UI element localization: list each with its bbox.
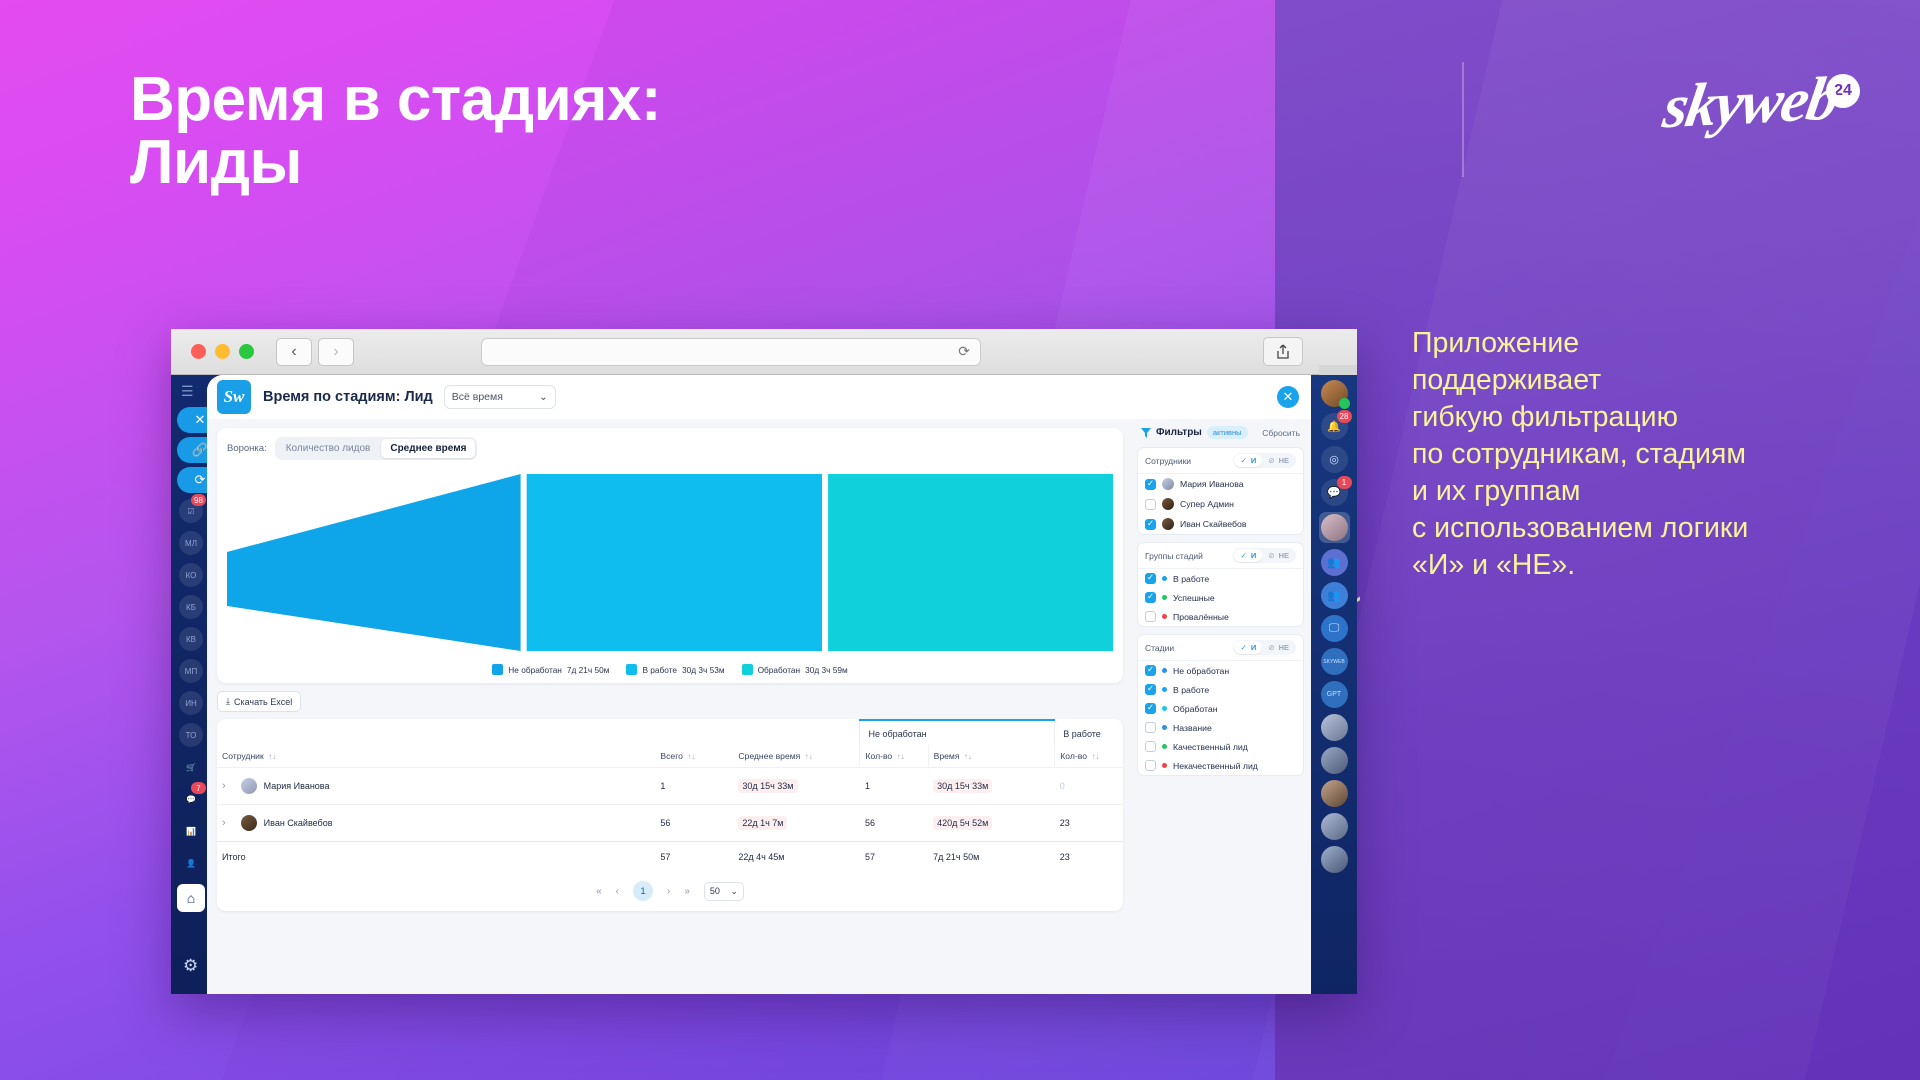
nav-buttons: ‹ › [276, 338, 354, 366]
sidebar-item-mp[interactable]: МП [179, 659, 203, 683]
funnel-segment-processed[interactable] [828, 474, 1113, 651]
funnel-label: Воронка: [227, 443, 267, 454]
filter-logic-toggle: ✓ И ⊘ НЕ [1233, 453, 1296, 468]
th-employee[interactable]: Сотрудник ↑↓ [217, 720, 655, 768]
app-body: Воронка: Количество лидов Среднее время [207, 419, 1311, 994]
checkbox[interactable] [1145, 722, 1156, 733]
filter-item-label: Мария Иванова [1180, 479, 1244, 489]
cell-g1-time: 420д 5ч 52м [928, 805, 1055, 842]
filters-active-badge: активны [1207, 426, 1248, 439]
legend-swatch-in-progress [626, 664, 637, 675]
th-group-in-progress-label: В работе [1063, 729, 1101, 739]
filter-item[interactable]: Успешные [1138, 588, 1303, 607]
funnel-segment-in-progress[interactable] [527, 474, 822, 651]
sidebar-item-to[interactable]: ТО [179, 723, 203, 747]
pagination-prev[interactable]: ‹ [616, 886, 619, 897]
filter-item-label: Некачественный лид [1173, 761, 1258, 771]
employee-cell-inner: › Мария Иванова [222, 778, 650, 794]
filter-item-label: В работе [1173, 574, 1209, 584]
forward-button[interactable]: › [318, 338, 354, 366]
th-avg-time[interactable]: Среднее время ↑↓ [733, 720, 860, 768]
filter-item-label: Иван Скайвебов [1180, 519, 1246, 529]
sort-icon-g1-count[interactable]: ↑↓ [897, 752, 905, 761]
legend-item-in-progress: В работе 30д 3ч 53м [626, 664, 724, 675]
cell-g1-time: 30д 15ч 33м [928, 768, 1055, 805]
th-avg-time-label: Среднее время [738, 751, 800, 761]
sort-icon-g1-time[interactable]: ↑↓ [964, 752, 972, 761]
pagination-first[interactable]: « [596, 886, 602, 897]
sidebar-item-chat[interactable]: 💬 7 [179, 787, 203, 811]
table-head: Сотрудник ↑↓ Всего ↑↓ Среднее время [217, 720, 1123, 768]
filter-group-name: Стадии [1145, 643, 1174, 653]
browser-viewport: ☰ ✕ 🔗 ⟳ ☑ 98 МЛ КО КБ КВ МП ИН ТО 🛒 💬 7 … [171, 375, 1357, 994]
filter-item-label: Супер Админ [1180, 499, 1234, 509]
avatar [241, 778, 257, 794]
sort-icon-avg-time[interactable]: ↑↓ [805, 752, 813, 761]
cell-total-total: 57 [655, 842, 733, 873]
app-title: Время по стадиям: Лид [263, 389, 433, 405]
sidebar-item-kb[interactable]: КБ [179, 595, 203, 619]
sidebar-item-tasks[interactable]: ☑ 98 [179, 499, 203, 523]
sort-icon-g2-count[interactable]: ↑↓ [1091, 752, 1099, 761]
group-icon[interactable]: 👥 [1321, 549, 1348, 576]
notifications-badge: 28 [1337, 410, 1352, 423]
filter-logic-not-label: НЕ [1279, 643, 1289, 652]
app-header: Sw Время по стадиям: Лид Всё время ⌄ ✕ [207, 375, 1311, 419]
avatar-4[interactable] [1321, 813, 1348, 840]
pagination-current-page[interactable]: 1 [633, 881, 653, 901]
filter-logic-not[interactable]: ⊘ НЕ [1262, 641, 1295, 654]
filter-logic-toggle: ✓ И ⊘ НЕ [1233, 548, 1296, 563]
tasks-badge: 98 [191, 494, 206, 506]
page-title-line2: Лиды [130, 131, 661, 194]
filters-panel: Фильтры активны Сбросить Сотрудники ✓ И … [1133, 419, 1311, 994]
period-select[interactable]: Всё время ⌄ [444, 385, 556, 409]
main-content: Воронка: Количество лидов Среднее время [207, 419, 1133, 994]
callout-line-5: с использованием логики [1412, 510, 1892, 547]
g1-time-value: 30д 15ч 33м [933, 779, 992, 793]
filters-title: Фильтры [1156, 427, 1202, 438]
filter-group-header: Стадии ✓ И ⊘ НЕ [1138, 635, 1303, 661]
sidebar-item-in[interactable]: ИН [179, 691, 203, 715]
download-excel-button[interactable]: ⤓ Скачать Excel [217, 691, 301, 712]
callout-line-2: гибкую фильтрацию [1412, 399, 1892, 436]
cell-total: 56 [655, 805, 733, 842]
page-title: Время в стадиях: Лиды [130, 68, 661, 194]
legend-swatch-processed [742, 664, 753, 675]
filter-logic-and[interactable]: ✓ И [1234, 641, 1262, 654]
th-g1-count[interactable]: Кол-во ↑↓ [860, 745, 928, 768]
table-row[interactable]: › Мария Иванова 1 30д 15ч 33м [217, 768, 1123, 805]
legend-label-in-progress: В работе [642, 665, 677, 675]
employees-table: Сотрудник ↑↓ Всего ↑↓ Среднее время [217, 719, 1123, 872]
checkbox[interactable] [1145, 741, 1156, 752]
share-button[interactable] [1263, 337, 1303, 366]
status-dot [1162, 668, 1167, 673]
filter-item[interactable]: Не обработан [1138, 661, 1303, 680]
download-icon: ⤓ [226, 696, 230, 707]
filters-reset-button[interactable]: Сбросить [1262, 428, 1300, 438]
filter-item-label: Не обработан [1173, 666, 1229, 676]
browser-toolbar: ‹ › ⟳ + [171, 329, 1357, 375]
address-bar[interactable]: ⟳ [481, 338, 981, 366]
filter-logic-and-label: И [1251, 551, 1256, 560]
expand-row-icon[interactable]: › [222, 780, 226, 792]
share-icon [1276, 344, 1290, 360]
status-dot [1162, 763, 1167, 768]
legend-label-not-processed: Не обработан [508, 665, 562, 675]
callout-line-3: по сотрудникам, стадиям [1412, 436, 1892, 473]
table-head-group-row: Сотрудник ↑↓ Всего ↑↓ Среднее время [217, 720, 1123, 745]
app-logo-icon: Sw [217, 380, 251, 414]
avatar [1162, 478, 1174, 490]
filter-item-label: В работе [1173, 685, 1209, 695]
filter-item-label: Успешные [1173, 593, 1215, 603]
app-container: Sw Время по стадиям: Лид Всё время ⌄ ✕ В… [207, 375, 1311, 994]
avatar-1[interactable] [1321, 714, 1348, 741]
cell-g2-count: 0 [1055, 768, 1123, 805]
filter-logic-toggle: ✓ И ⊘ НЕ [1233, 640, 1296, 655]
filter-logic-and-label: И [1251, 456, 1256, 465]
filter-item-label: Качественный лид [1173, 742, 1248, 752]
tab-lead-count[interactable]: Количество лидов [277, 439, 380, 458]
th-total[interactable]: Всего ↑↓ [655, 720, 733, 768]
checkbox[interactable] [1145, 611, 1156, 622]
cell-g2-count: 23 [1055, 805, 1123, 842]
checkbox[interactable] [1145, 519, 1156, 530]
sort-icon-total[interactable]: ↑↓ [687, 752, 695, 761]
filter-item-label: Провалённые [1173, 612, 1229, 622]
th-total-label: Всего [660, 751, 683, 761]
legend-item-not-processed: Не обработан 7д 21ч 50м [492, 664, 609, 675]
cell-employee: › Мария Иванова [217, 768, 655, 805]
filter-item-label: Обработан [1173, 704, 1218, 714]
filter-item[interactable]: В работе [1138, 680, 1303, 699]
employees-table-card: Сотрудник ↑↓ Всего ↑↓ Среднее время [217, 719, 1123, 911]
back-button[interactable]: ‹ [276, 338, 312, 366]
employee-cell-inner: › Иван Скайвебов [222, 815, 650, 831]
sidebar-item-ml[interactable]: МЛ [179, 531, 203, 555]
status-dot [1162, 687, 1167, 692]
checkbox[interactable] [1145, 703, 1156, 714]
download-excel-label: Скачать Excel [234, 697, 292, 707]
avatar [1162, 518, 1174, 530]
sidebar-item-cart[interactable]: 🛒 [179, 755, 203, 779]
filter-item[interactable]: Название [1138, 718, 1303, 737]
checkbox[interactable] [1145, 499, 1156, 510]
avatar [1162, 498, 1174, 510]
filter-group-employees: Сотрудники ✓ И ⊘ НЕ Мария Иванова [1137, 447, 1304, 535]
funnel-legend: Не обработан 7д 21ч 50м В работе 30д 3ч … [227, 664, 1113, 675]
funnel-card: Воронка: Количество лидов Среднее время [217, 428, 1123, 683]
filter-logic-not[interactable]: ⊘ НЕ [1262, 454, 1295, 467]
pagination: « ‹ 1 › » 50 ⌄ [217, 872, 1123, 911]
employee-name: Иван Скайвебов [264, 818, 333, 828]
callout-line-4: и их группам [1412, 473, 1892, 510]
th-g1-count-label: Кол-во [865, 751, 892, 761]
home-icon[interactable]: ⌂ [177, 884, 205, 912]
employee-name: Мария Иванова [264, 781, 330, 791]
sidebar-item-contacts[interactable]: 👤 [179, 851, 203, 875]
filter-icon [1141, 428, 1151, 438]
filter-logic-and[interactable]: ✓ И [1234, 549, 1262, 562]
avatar [241, 815, 257, 831]
filter-item[interactable]: Провалённые [1138, 607, 1303, 626]
legend-value-not-processed: 7д 21ч 50м [567, 665, 610, 675]
avatar-current[interactable] [1321, 514, 1348, 541]
callout-line-1: поддерживает [1412, 362, 1892, 399]
filter-item[interactable]: Некачественный лид [1138, 756, 1303, 775]
menu-burger-icon[interactable]: ☰ [181, 383, 194, 400]
excel-row: ⤓ Скачать Excel [217, 691, 1123, 712]
sidebar-item-analytics[interactable]: 📊 [179, 819, 203, 843]
cell-total-g2-count: 23 [1055, 842, 1123, 873]
filter-item[interactable]: Иван Скайвебов [1138, 514, 1303, 534]
filter-logic-not-label: НЕ [1279, 551, 1289, 560]
checkbox[interactable] [1145, 760, 1156, 771]
cell-total-g1-count: 57 [860, 842, 928, 873]
cell-employee: › Иван Скайвебов [217, 805, 655, 842]
status-dot [1162, 576, 1167, 581]
filter-group-name: Сотрудники [1145, 456, 1191, 466]
filter-group-header: Сотрудники ✓ И ⊘ НЕ [1138, 448, 1303, 474]
logo-divider [1462, 62, 1464, 177]
bell-icon[interactable]: 🔔 28 [1321, 413, 1348, 440]
browser-window: ‹ › ⟳ + ☰ ✕ 🔗 ⟳ ☑ 98 МЛ КО КБ КВ [171, 329, 1357, 994]
brand-logo-text: skyweb [1659, 64, 1843, 144]
cell-total: 1 [655, 768, 733, 805]
avatar-5[interactable] [1321, 846, 1348, 873]
group2-icon[interactable]: 👥 [1321, 582, 1348, 609]
filters-header: Фильтры активны Сбросить [1137, 419, 1304, 447]
timer-icon[interactable]: ◎ [1321, 446, 1348, 473]
tab-average-time[interactable]: Среднее время [381, 439, 475, 458]
period-select-value: Всё время [452, 391, 503, 403]
th-group-in-progress[interactable]: В работе [1055, 720, 1123, 745]
status-dot [1162, 706, 1167, 711]
callout-line-6: «И» и «НЕ». [1412, 547, 1892, 584]
chevron-down-icon: ⌄ [539, 391, 548, 403]
th-g1-time-label: Время [934, 751, 960, 761]
checkbox[interactable] [1145, 479, 1156, 490]
th-g2-count[interactable]: Кол-во ↑↓ [1055, 745, 1123, 768]
legend-label-processed: Обработан [758, 665, 801, 675]
cell-total-g1-time: 7д 21ч 50м [928, 842, 1055, 873]
th-g2-count-label: Кол-во [1060, 751, 1087, 761]
gpt-icon[interactable]: GPT [1321, 681, 1348, 708]
th-g1-time[interactable]: Время ↑↓ [928, 745, 1055, 768]
messages-badge: 1 [1337, 476, 1352, 489]
close-window-button[interactable] [191, 344, 206, 359]
window-controls[interactable] [191, 344, 254, 359]
checkbox[interactable] [1145, 684, 1156, 695]
avg-time-value: 22д 1ч 7м [738, 816, 787, 830]
page-size-select[interactable]: 50 ⌄ [704, 882, 744, 901]
checkbox[interactable] [1145, 592, 1156, 603]
callout-line-0: Приложение [1412, 325, 1892, 362]
checkbox[interactable] [1145, 665, 1156, 676]
filter-group-name: Группы стадий [1145, 551, 1203, 561]
cell-avg-time: 22д 1ч 7м [733, 805, 860, 842]
page-title-line1: Время в стадиях: [130, 68, 661, 131]
filter-item[interactable]: Супер Админ [1138, 494, 1303, 514]
table-row[interactable]: › Иван Скайвебов 56 22д 1ч 7м [217, 805, 1123, 842]
crm-right-sidebar: 🔔 28 ◎ 💬 1 👥 👥 🖵 SKYWEB GPT [1311, 375, 1357, 994]
filter-item[interactable]: Качественный лид [1138, 737, 1303, 756]
filter-logic-and[interactable]: ✓ И [1234, 454, 1262, 467]
cell-avg-time: 30д 15ч 33м [733, 768, 860, 805]
filter-group-stage-groups: Группы стадий ✓ И ⊘ НЕ В работе [1137, 542, 1304, 627]
status-dot [1162, 725, 1167, 730]
avatar-current-wrapper[interactable] [1319, 512, 1350, 543]
funnel-metric-switch: Количество лидов Среднее время [275, 437, 478, 460]
legend-value-in-progress: 30д 3ч 53м [682, 665, 725, 675]
sidebar-item-kv[interactable]: КВ [179, 627, 203, 651]
filter-item[interactable]: Мария Иванова [1138, 474, 1303, 494]
th-employee-label: Сотрудник [222, 751, 264, 761]
close-app-button[interactable]: ✕ [1277, 386, 1299, 408]
chevron-down-icon: ⌄ [730, 886, 738, 897]
sort-icon-employee[interactable]: ↑↓ [268, 752, 276, 761]
avatar-3[interactable] [1321, 780, 1348, 807]
gear-icon[interactable]: ⚙ [183, 956, 198, 976]
board-icon[interactable]: 🖵 [1321, 615, 1348, 642]
filter-item[interactable]: В работе [1138, 569, 1303, 588]
filter-logic-not[interactable]: ⊘ НЕ [1262, 549, 1295, 562]
filter-group-header: Группы стадий ✓ И ⊘ НЕ [1138, 543, 1303, 569]
messages-icon[interactable]: 💬 1 [1321, 479, 1348, 506]
checkbox[interactable] [1145, 573, 1156, 584]
sidebar-item-ko[interactable]: КО [179, 563, 203, 587]
chat-badge: 7 [191, 782, 206, 794]
filter-item-label: Название [1173, 723, 1212, 733]
legend-value-processed: 30д 3ч 59м [805, 665, 848, 675]
avg-time-value: 30д 15ч 33м [738, 779, 797, 793]
g1-time-value: 420д 5ч 52м [933, 816, 992, 830]
callout-text: Приложение поддерживает гибкую фильтраци… [1412, 325, 1892, 584]
funnel-chart-svg [227, 464, 1113, 661]
cell-total-avg-time: 22д 4ч 45м [733, 842, 860, 873]
reload-icon[interactable]: ⟳ [958, 343, 970, 360]
brand-logo: skyweb 24 [1665, 68, 1860, 139]
filter-group-stages: Стадии ✓ И ⊘ НЕ Не обработан [1137, 634, 1304, 776]
funnel-chart [227, 464, 1113, 661]
maximize-window-button[interactable] [239, 344, 254, 359]
status-dot [1162, 744, 1167, 749]
cell-g1-count: 56 [860, 805, 928, 842]
pagination-next[interactable]: › [667, 886, 670, 897]
pagination-last[interactable]: » [684, 886, 690, 897]
skyweb-icon[interactable]: SKYWEB [1321, 648, 1348, 675]
page-size-value: 50 [710, 886, 720, 896]
filter-logic-and-label: И [1251, 643, 1256, 652]
avatar-2[interactable] [1321, 747, 1348, 774]
funnel-tabs: Воронка: Количество лидов Среднее время [227, 437, 1113, 460]
th-group-not-processed-label: Не обработан [868, 729, 926, 739]
user-avatar-online[interactable] [1321, 380, 1348, 407]
status-dot [1162, 595, 1167, 600]
cell-g1-count: 1 [860, 768, 928, 805]
filter-logic-not-label: НЕ [1279, 456, 1289, 465]
cell-total-label: Итого [217, 842, 655, 873]
th-group-not-processed[interactable]: Не обработан [860, 720, 1055, 745]
legend-swatch-not-processed [492, 664, 503, 675]
table-total-row: Итого 57 22д 4ч 45м 57 7д 21ч 50м 23 [217, 842, 1123, 873]
expand-row-icon[interactable]: › [222, 817, 226, 829]
filter-item[interactable]: Обработан [1138, 699, 1303, 718]
funnel-segment-not-processed[interactable] [227, 474, 521, 651]
status-dot [1162, 614, 1167, 619]
minimize-window-button[interactable] [215, 344, 230, 359]
online-status-dot [1339, 398, 1350, 409]
table-body: › Мария Иванова 1 30д 15ч 33м [217, 768, 1123, 873]
legend-item-processed: Обработан 30д 3ч 59м [742, 664, 848, 675]
